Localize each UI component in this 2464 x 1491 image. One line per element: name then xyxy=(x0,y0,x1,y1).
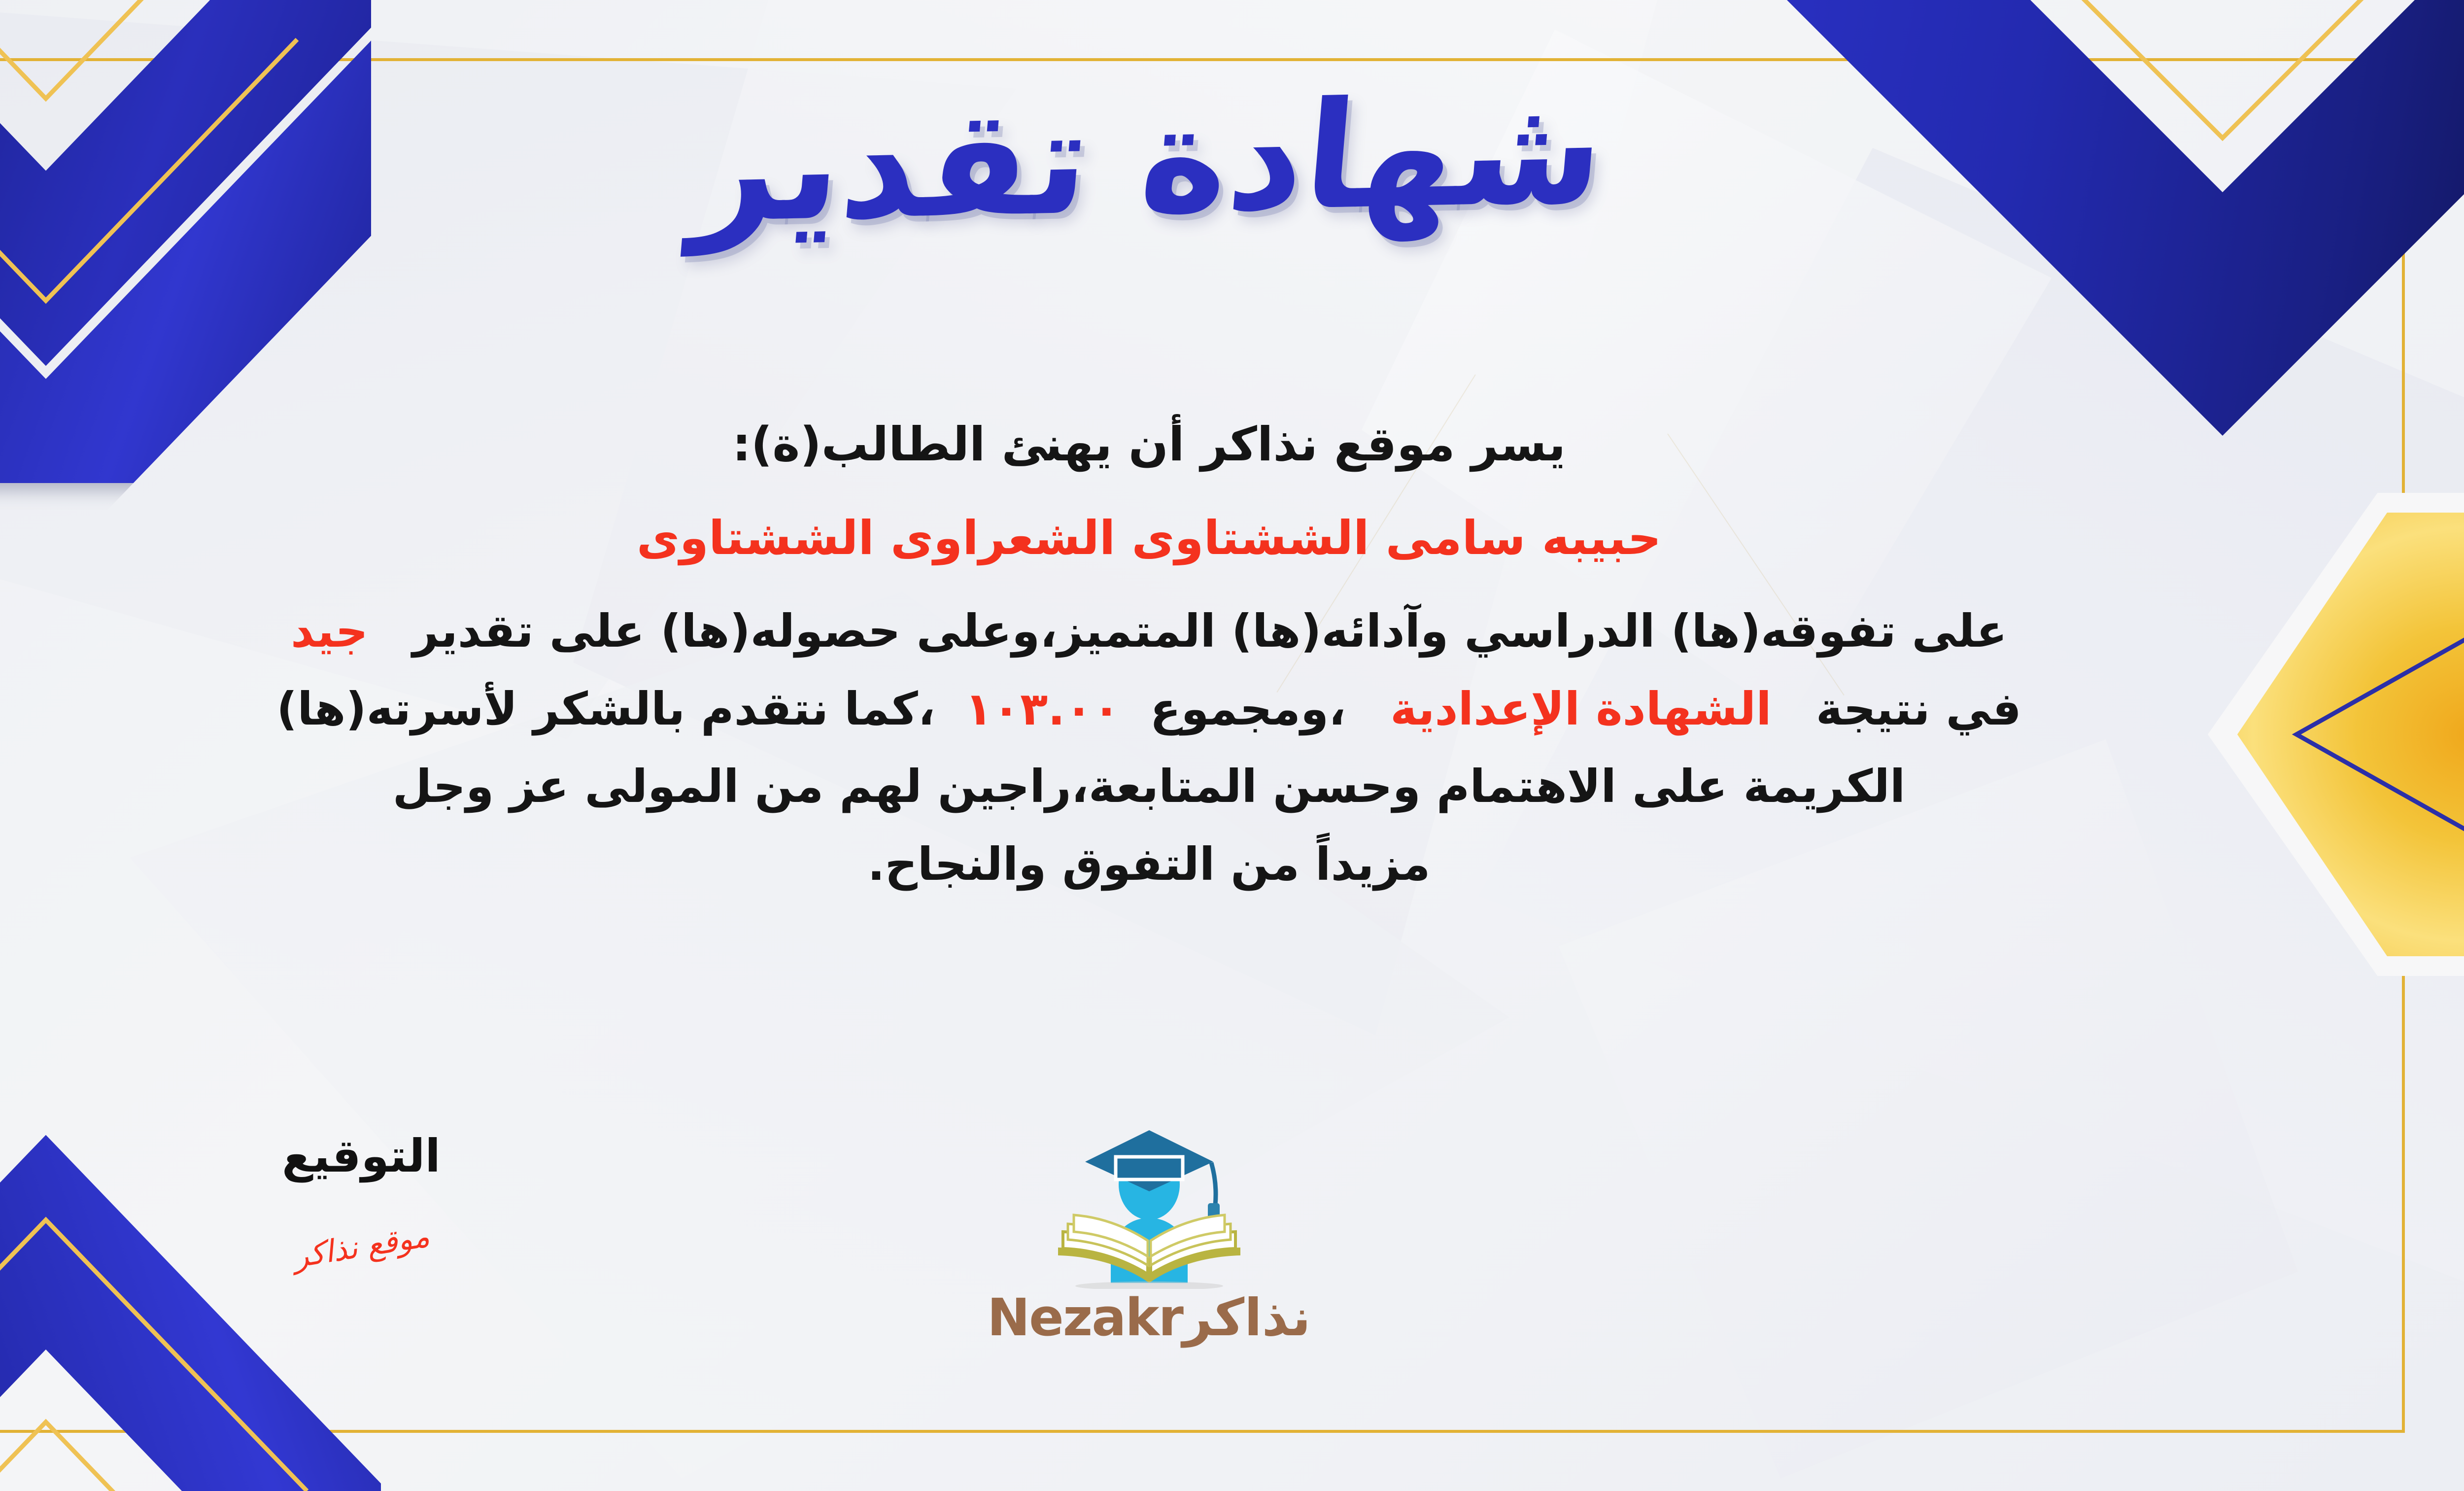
intro-line: يسر موقع نذاكر أن يهنئ الطالب(ة): xyxy=(0,409,2316,480)
graduate-book-icon xyxy=(962,1126,1336,1289)
closing-line: مزيداً من التفوق والنجاح. xyxy=(0,830,2316,899)
exam-name: الشهادة الإعدادية xyxy=(1390,683,1772,735)
certificate-title-container: شهادة تقدير xyxy=(0,79,2464,242)
signature-block: التوقيع موقع نذاكر xyxy=(208,1134,514,1264)
signature-label: التوقيع xyxy=(208,1134,514,1179)
exam-prefix: في نتيجة xyxy=(1816,683,2021,735)
certificate-page: شهادة تقدير يسر موقع نذاكر أن يهنئ الطال… xyxy=(0,0,2464,1491)
family-thanks-line: الكريمة على الاهتمام وحسن المتابعة،راجين… xyxy=(0,752,2316,821)
achievement-text: على تفوقه(ها) الدراسي وآدائه(ها) المتميز… xyxy=(412,605,2007,658)
thanks-text: ،كما نتقدم بالشكر لأسرته(ها) xyxy=(276,683,935,735)
certificate-body: يسر موقع نذاكر أن يهنئ الطالب(ة): حبيبه … xyxy=(0,409,2316,908)
site-logo: نذاكرNezakr xyxy=(962,1126,1336,1343)
page-title: شهادة تقدير xyxy=(687,69,1611,251)
logo-wordmark: نذاكرNezakr xyxy=(962,1292,1336,1343)
grade-value: جيد xyxy=(291,605,368,658)
total-label: ،ومجموع xyxy=(1150,683,1346,735)
student-name: حبيبه سامى الششتاوى الشعراوى الششتاوى xyxy=(0,503,2316,574)
achievement-line: على تفوقه(ها) الدراسي وآدائه(ها) المتميز… xyxy=(0,597,2316,666)
exam-result-line: في نتيجةالشهادة الإعدادية،ومجموع١٠٣.٠٠،ك… xyxy=(0,675,2316,744)
total-score: ١٠٣.٠٠ xyxy=(965,683,1121,735)
